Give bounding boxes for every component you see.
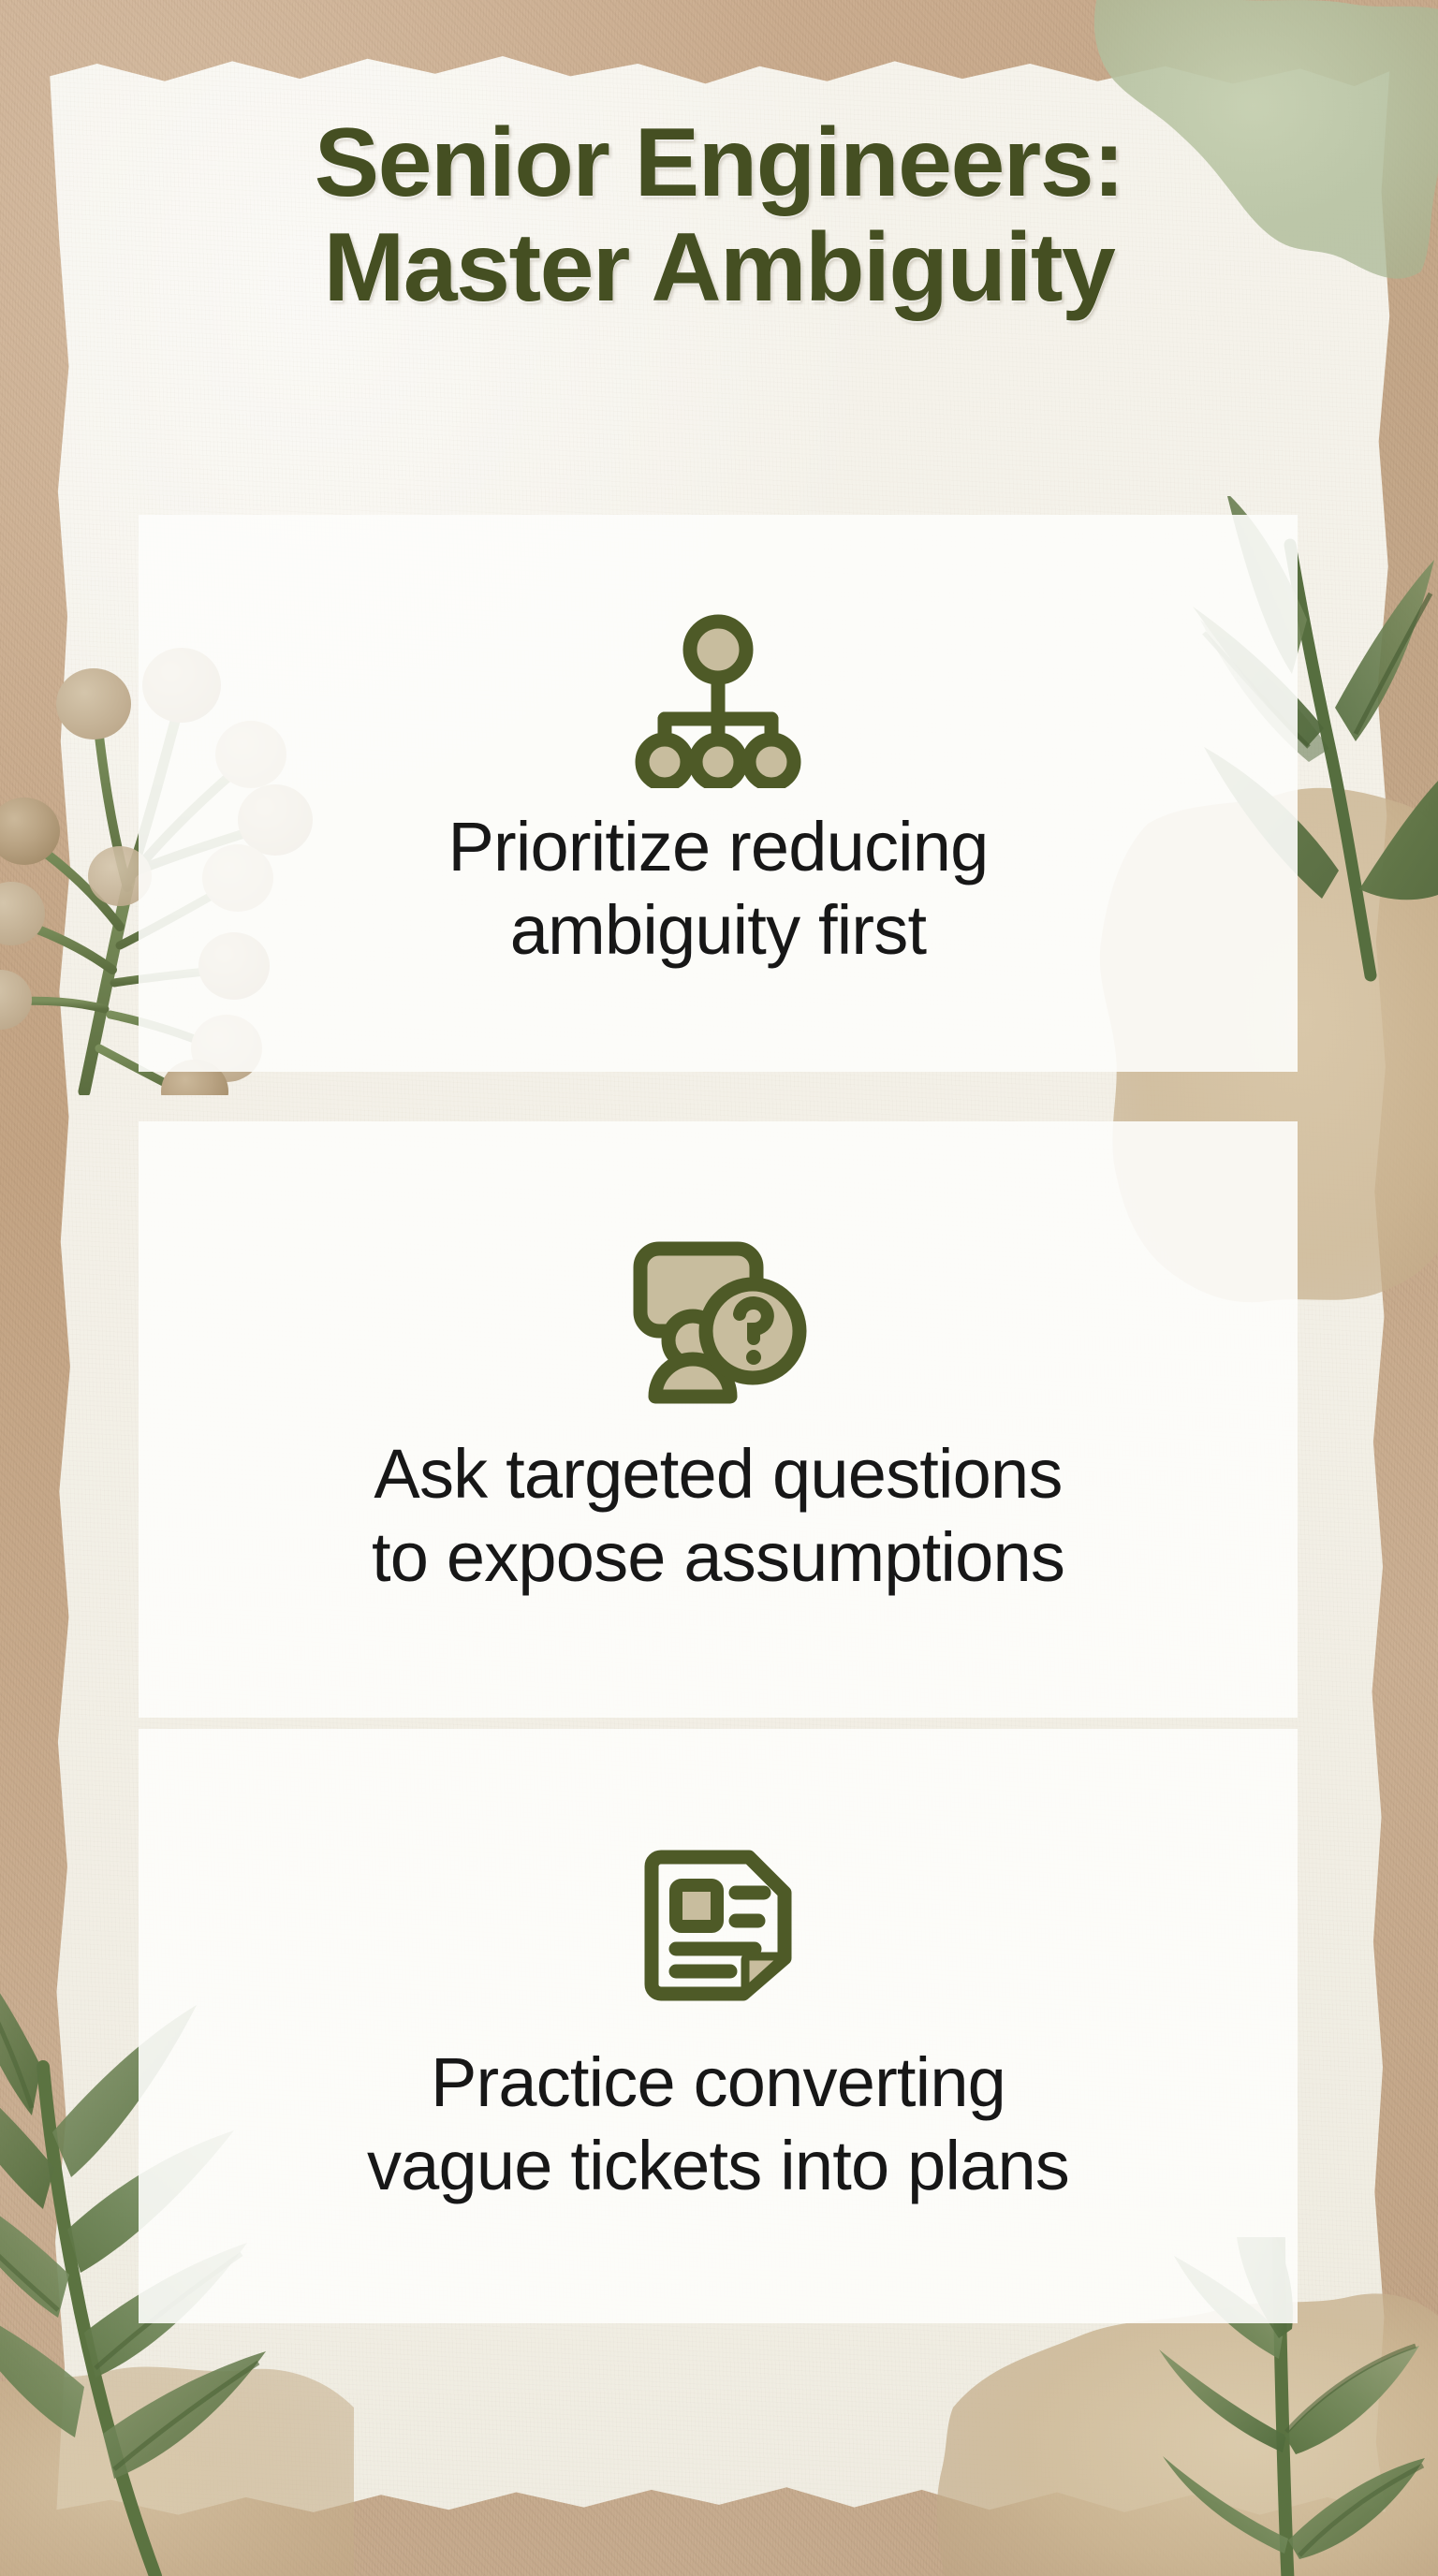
document-icon <box>638 1844 798 2010</box>
tip-card-1-text: Prioritize reducing ambiguity first <box>448 806 988 973</box>
title-line-1: Senior Engineers: <box>56 110 1382 215</box>
tip-card-2: Ask targeted questions to expose assumpt… <box>139 1121 1298 1718</box>
tip-card-3-line-1: Practice converting <box>367 2042 1069 2125</box>
hierarchy-icon <box>635 614 801 793</box>
tip-card-3: Practice converting vague tickets into p… <box>139 1729 1298 2323</box>
tip-card-1: Prioritize reducing ambiguity first <box>139 515 1298 1072</box>
tip-card-1-line-2: ambiguity first <box>448 889 988 973</box>
tip-card-1-line-1: Prioritize reducing <box>448 806 988 889</box>
tip-card-3-text: Practice converting vague tickets into p… <box>367 2042 1069 2208</box>
tip-card-2-line-2: to expose assumptions <box>372 1516 1064 1600</box>
poster-title: Senior Engineers: Master Ambiguity <box>56 110 1382 321</box>
person-question-icon <box>629 1239 807 1409</box>
tip-card-2-line-1: Ask targeted questions <box>372 1433 1064 1516</box>
title-line-2: Master Ambiguity <box>56 215 1382 320</box>
tip-card-3-line-2: vague tickets into plans <box>367 2125 1069 2208</box>
tip-card-2-text: Ask targeted questions to expose assumpt… <box>372 1433 1064 1600</box>
